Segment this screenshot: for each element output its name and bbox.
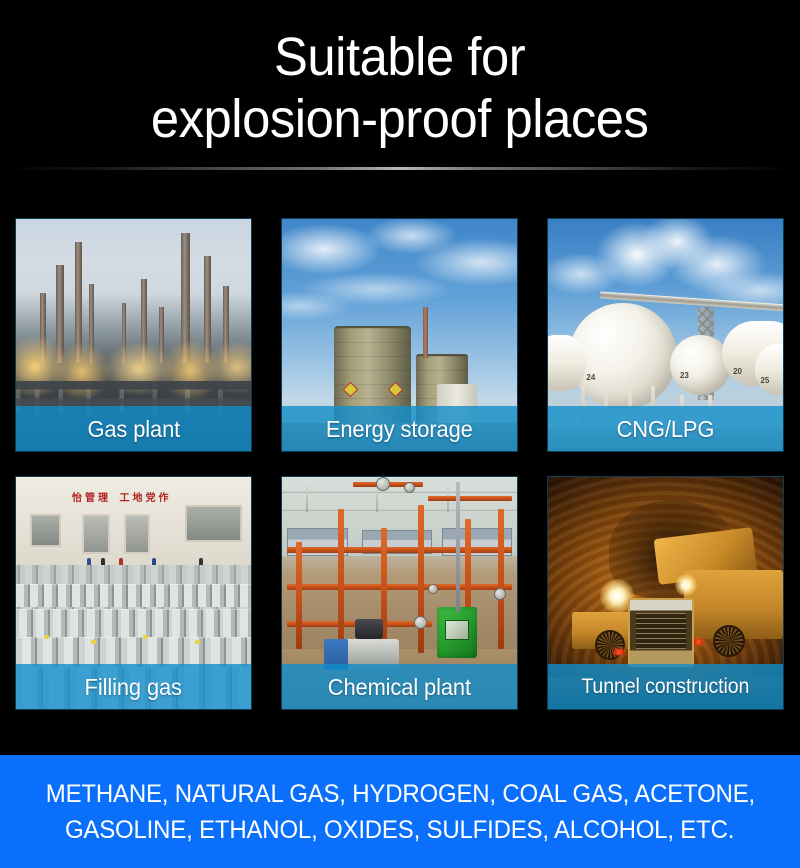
- page-title-line-1: Suitable for: [274, 26, 525, 88]
- card-caption-chemical-plant: Chemical plant: [282, 664, 517, 709]
- warehouse-sign-right: 工地党作: [120, 489, 172, 504]
- card-caption-energy-storage: Energy storage: [282, 406, 517, 451]
- card-caption-filling-gas: Filling gas: [16, 664, 251, 709]
- header-divider: [0, 167, 800, 170]
- sphere-number-23: 23: [680, 371, 689, 380]
- card-caption-label: CNG/LPG: [617, 416, 715, 442]
- card-caption-tunnel-construction: Tunnel construction: [548, 664, 783, 709]
- card-caption-gas-plant: Gas plant: [16, 406, 251, 451]
- card-caption-label: Tunnel construction: [582, 674, 750, 700]
- sphere-number-20: 20: [733, 367, 742, 376]
- card-tunnel-construction[interactable]: Tunnel construction: [547, 476, 784, 710]
- gas-types-banner: METHANE, NATURAL GAS, HYDROGEN, COAL GAS…: [0, 755, 800, 868]
- page-header: Suitable for explosion-proof places: [0, 0, 800, 168]
- card-caption-label: Energy storage: [326, 416, 473, 442]
- card-gas-plant[interactable]: Gas plant: [15, 218, 252, 452]
- page-title-line-2: explosion-proof places: [151, 88, 649, 150]
- card-filling-gas[interactable]: 怡管理 工地党作: [15, 476, 252, 710]
- card-cng-lpg[interactable]: 24 23 20 25: [547, 218, 784, 452]
- card-energy-storage[interactable]: Energy storage: [281, 218, 518, 452]
- sphere-number-25: 25: [760, 376, 769, 385]
- promo-page: Suitable for explosion-proof places: [0, 0, 800, 868]
- card-caption-label: Filling gas: [85, 674, 182, 700]
- card-caption-cng-lpg: CNG/LPG: [548, 406, 783, 451]
- warehouse-sign-left: 怡管理: [72, 489, 111, 504]
- application-card-grid: Gas plant Energy storage: [15, 218, 785, 710]
- card-chemical-plant[interactable]: Chemical plant: [281, 476, 518, 710]
- gas-types-line-1: METHANE, NATURAL GAS, HYDROGEN, COAL GAS…: [45, 778, 754, 810]
- sphere-number-24: 24: [586, 373, 595, 382]
- gas-types-line-2: GASOLINE, ETHANOL, OXIDES, SULFIDES, ALC…: [65, 814, 734, 846]
- card-caption-label: Chemical plant: [328, 674, 471, 700]
- warehouse-sign: 怡管理 工地党作: [68, 486, 176, 507]
- card-caption-label: Gas plant: [87, 416, 180, 442]
